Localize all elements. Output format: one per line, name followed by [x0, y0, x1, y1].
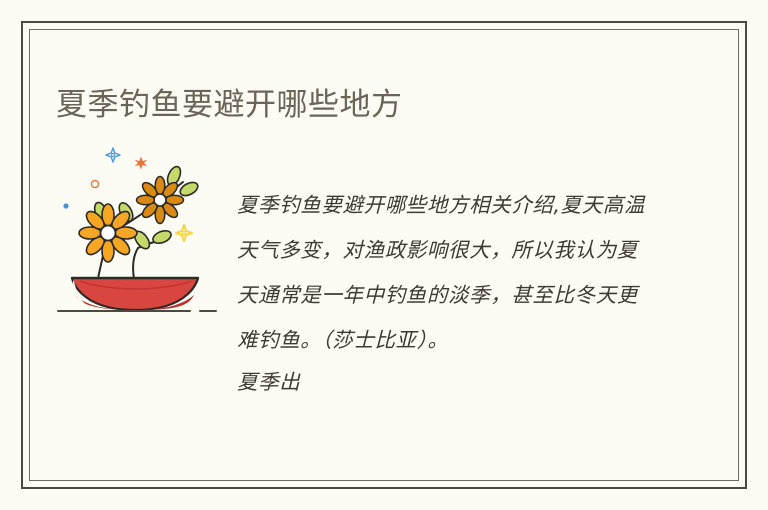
orange-star-sparkle	[135, 157, 148, 170]
flower-right	[137, 177, 184, 224]
flower-pot	[72, 278, 198, 310]
page-title: 夏季钓鱼要避开哪些地方	[56, 83, 403, 127]
yellow-star-sparkle	[176, 225, 192, 241]
article-content: 夏季钓鱼要避开哪些地方相关介绍,夏天高温天气多变，对渔政影响很大，所以我认为夏天…	[50, 138, 718, 421]
article-body-text: 夏季钓鱼要避开哪些地方相关介绍,夏天高温天气多变，对渔政影响很大，所以我认为夏天…	[237, 159, 657, 401]
article-body-main: 夏季钓鱼要避开哪些地方相关介绍,夏天高温天气多变，对渔政影响很大，所以我认为夏天…	[237, 193, 645, 352]
blue-dot-sparkle	[63, 203, 68, 208]
article-body-tail: 夏季出	[237, 363, 657, 401]
blue-star-sparkle	[106, 148, 120, 162]
potted-flowers-illustration	[50, 140, 225, 315]
flower-left	[79, 204, 137, 262]
orange-ring-sparkle	[91, 180, 98, 187]
article-page: 夏季钓鱼要避开哪些地方	[0, 0, 768, 510]
